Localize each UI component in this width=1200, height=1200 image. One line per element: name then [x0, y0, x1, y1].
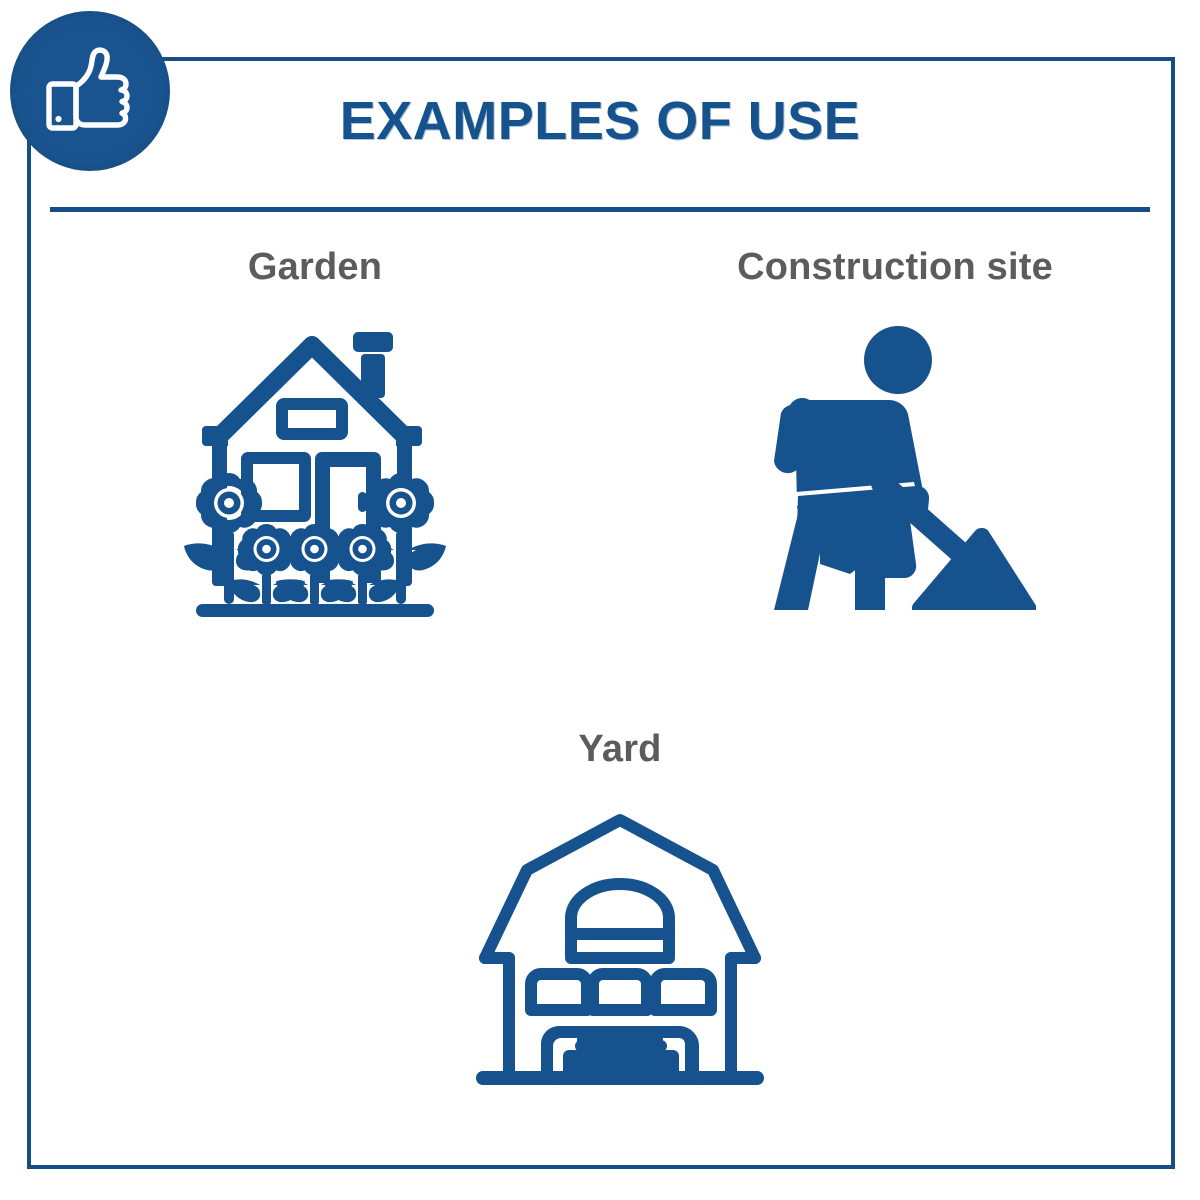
barn-icon — [455, 806, 785, 1094]
example-label-yard: Yard — [455, 730, 785, 768]
house-with-flowers-icon — [155, 326, 475, 622]
thumbs-up-badge — [10, 11, 170, 171]
title-divider — [50, 207, 1150, 212]
example-tile-construction-site: Construction site — [730, 248, 1060, 610]
example-label-construction-site: Construction site — [730, 248, 1060, 286]
page-title: EXAMPLES OF USE — [50, 94, 1150, 148]
worker-digging-icon — [730, 320, 1060, 610]
thumbs-up-icon — [38, 39, 142, 143]
examples-of-use-panel: EXAMPLES OF USE Garden — [0, 0, 1200, 1200]
example-tile-garden: Garden — [155, 248, 475, 622]
example-tile-yard: Yard — [455, 730, 785, 1094]
example-label-garden: Garden — [155, 248, 475, 286]
